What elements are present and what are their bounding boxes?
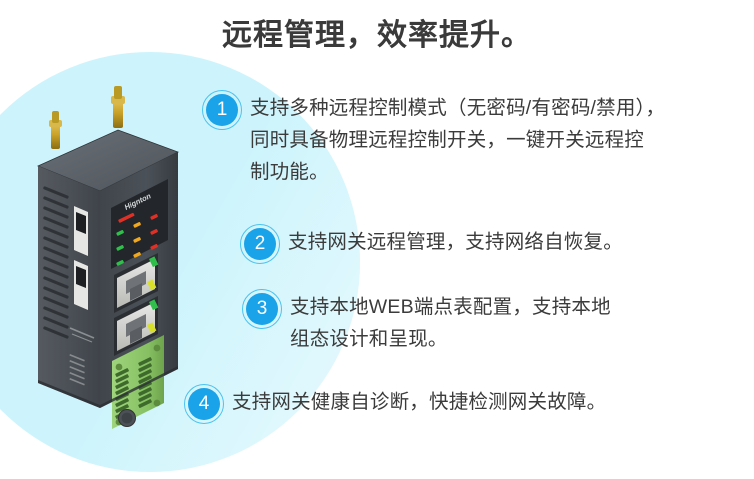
- feature-badge-2: 2: [240, 224, 280, 264]
- feature-text-2: 支持网关远程管理，支持网络自恢复。: [288, 224, 623, 258]
- badge-number-1: 1: [206, 94, 238, 126]
- feature-list: 1 支持多种远程控制模式（无密码/有密码/禁用）， 同时具备物理远程控制开关，一…: [196, 84, 754, 444]
- feature-item-1: 1 支持多种远程控制模式（无密码/有密码/禁用）， 同时具备物理远程控制开关，一…: [202, 90, 754, 188]
- feature-badge-3: 3: [242, 289, 282, 329]
- badge-number-3: 3: [246, 293, 278, 325]
- badge-number-4: 4: [188, 388, 220, 420]
- feature-item-2: 2 支持网关远程管理，支持网络自恢复。: [240, 224, 754, 264]
- feature-badge-1: 1: [202, 90, 242, 130]
- reset-button: [119, 410, 136, 427]
- antenna-connector-left: [49, 111, 62, 149]
- product-label-upper: [74, 206, 88, 256]
- feature-badge-4: 4: [184, 384, 224, 424]
- feature-text-3: 支持本地WEB端点表配置，支持本地 组态设计和呈现。: [290, 289, 611, 355]
- feature-text-4: 支持网关健康自诊断，快捷检测网关故障。: [232, 384, 606, 418]
- feature-item-4: 4 支持网关健康自诊断，快捷检测网关故障。: [184, 384, 754, 424]
- feature-text-1: 支持多种远程控制模式（无密码/有密码/禁用）， 同时具备物理远程控制开关，一键开…: [250, 90, 665, 188]
- page-title: 远程管理，效率提升。: [0, 10, 754, 54]
- antenna-connector-right: [111, 86, 125, 128]
- product-label-lower: [74, 260, 88, 310]
- feature-item-3: 3 支持本地WEB端点表配置，支持本地 组态设计和呈现。: [242, 289, 754, 355]
- badge-number-2: 2: [244, 228, 276, 260]
